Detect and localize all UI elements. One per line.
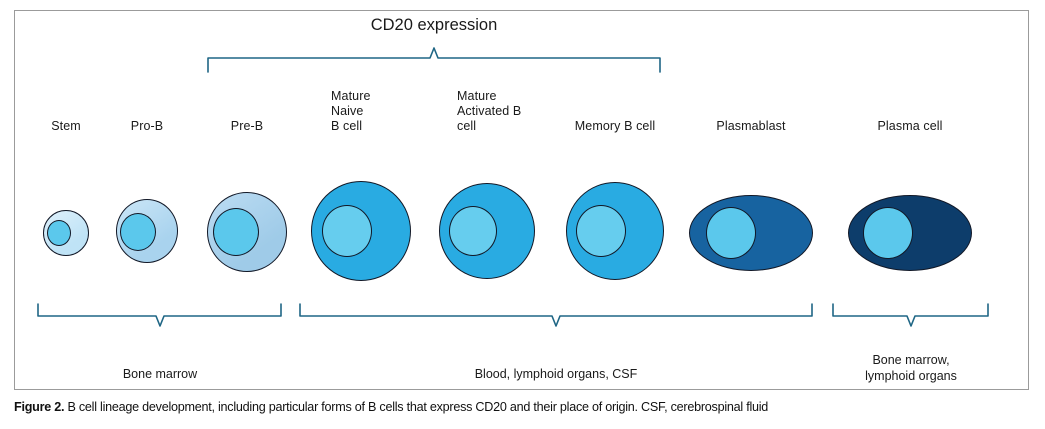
region-brackets [0,0,1045,400]
caption-label: Figure 2. [14,400,64,414]
figure-caption: Figure 2. B cell lineage development, in… [14,400,1029,414]
region-label-blood-lymphoid-csf: Blood, lymphoid organs, CSF [475,366,638,382]
bracket-bone-marrow-lymphoid-organs [833,304,988,326]
bracket-bone-marrow [38,304,281,326]
caption-text: B cell lineage development, including pa… [64,400,768,414]
region-label-bone-marrow: Bone marrow [123,366,197,382]
bracket-blood-lymphoid-csf [300,304,812,326]
region-label-bone-marrow-lymphoid-organs: Bone marrow, lymphoid organs [865,352,957,384]
